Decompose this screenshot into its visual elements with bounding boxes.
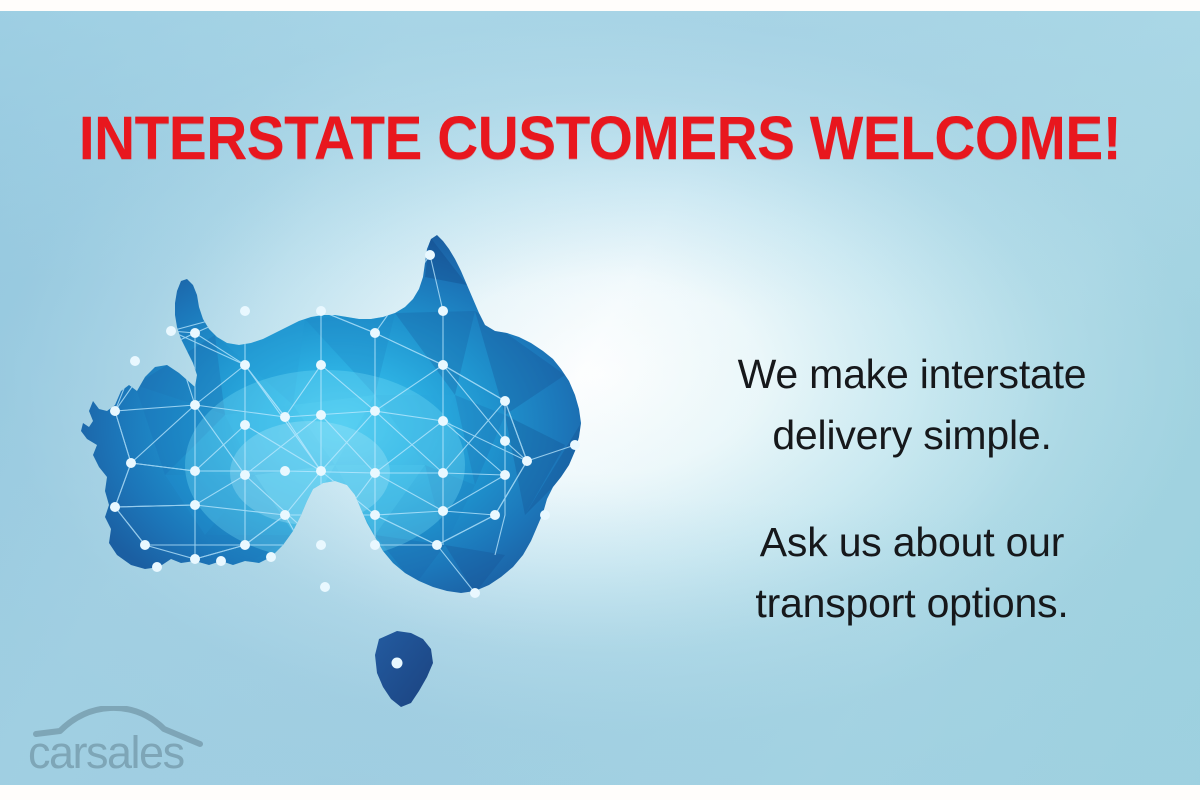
map-body <box>81 235 581 598</box>
promo-line-4: transport options. <box>666 573 1158 634</box>
promo-line-1: We make interstate <box>666 344 1158 405</box>
carsales-wordmark: carsales <box>28 727 184 772</box>
promo-line-2: delivery simple. <box>666 405 1158 466</box>
promo-copy: We make interstate delivery simple. Ask … <box>666 344 1158 634</box>
promo-line-3: Ask us about our <box>666 512 1158 573</box>
promo-paragraph-2: Ask us about our transport options. <box>666 512 1158 634</box>
page-title: INTERSTATE CUSTOMERS WELCOME! <box>42 104 1158 172</box>
top-white-strip <box>0 0 1200 11</box>
carsales-watermark: carsales <box>28 706 218 772</box>
australia-network-map <box>75 215 655 740</box>
banner-image: INTERSTATE CUSTOMERS WELCOME! <box>0 0 1200 800</box>
bottom-white-strip <box>0 785 1200 800</box>
map-tasmania <box>375 631 433 707</box>
promo-paragraph-1: We make interstate delivery simple. <box>666 344 1158 466</box>
